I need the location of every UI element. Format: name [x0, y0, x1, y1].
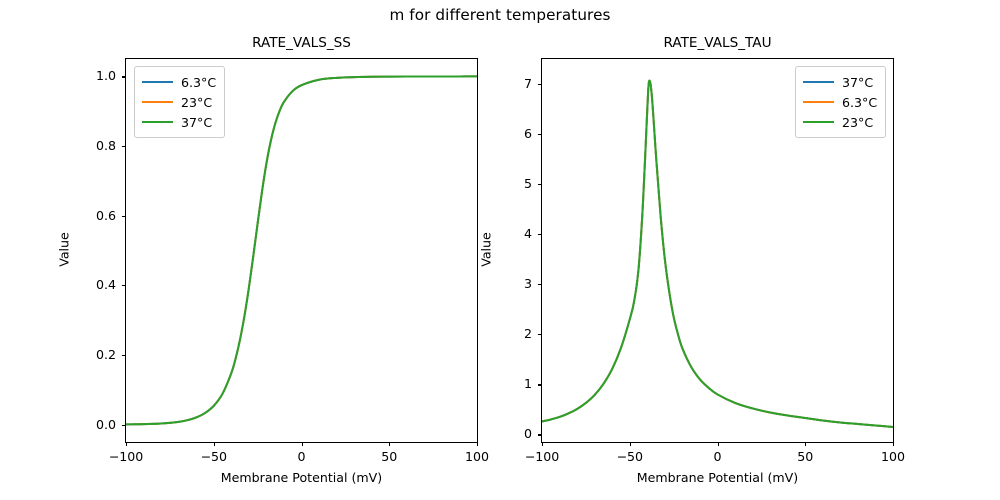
- legend-item[interactable]: 37°C: [142, 112, 216, 132]
- y-tick-label: 2: [472, 326, 532, 341]
- legend-item-label: 6.3°C: [842, 95, 877, 110]
- legend-item-label: 37°C: [181, 115, 212, 130]
- x-tick-mark: [389, 442, 390, 446]
- matplotlib-figure: m for different temperatures RATE_VALS_S…: [0, 0, 1000, 500]
- legend-item-label: 6.3°C: [181, 75, 216, 90]
- x-tick-mark: [302, 442, 303, 446]
- legend-item[interactable]: 23°C: [803, 112, 877, 132]
- x-tick-label: −50: [184, 449, 244, 464]
- legend-item[interactable]: 6.3°C: [142, 72, 216, 92]
- y-tick-label: 1: [472, 376, 532, 391]
- axes-title-tau: RATE_VALS_TAU: [541, 35, 894, 51]
- y-tick-label: 0.2: [56, 347, 116, 362]
- y-tick-label: 4: [472, 226, 532, 241]
- x-tick-mark: [477, 442, 478, 446]
- y-tick-mark: [122, 146, 126, 147]
- x-tick-label: 100: [447, 449, 507, 464]
- y-tick-mark: [538, 84, 542, 85]
- y-tick-mark: [538, 434, 542, 435]
- legend-item[interactable]: 6.3°C: [803, 92, 877, 112]
- x-tick-mark: [805, 442, 806, 446]
- y-tick-mark: [122, 355, 126, 356]
- y-tick-label: 0.8: [56, 138, 116, 153]
- x-tick-label: 50: [359, 449, 419, 464]
- x-tick-label: 50: [775, 449, 835, 464]
- legend-color-swatch: [803, 101, 834, 103]
- x-tick-mark: [214, 442, 215, 446]
- legend-item-label: 23°C: [181, 95, 212, 110]
- x-tick-mark: [893, 442, 894, 446]
- x-tick-label: −100: [96, 449, 156, 464]
- y-tick-mark: [538, 234, 542, 235]
- x-axis-label-ss: Membrane Potential (mV): [125, 470, 478, 485]
- figure-suptitle: m for different temperatures: [0, 6, 1000, 24]
- x-tick-label: −100: [512, 449, 572, 464]
- legend-item[interactable]: 23°C: [142, 92, 216, 112]
- y-tick-mark: [538, 184, 542, 185]
- x-tick-label: −50: [600, 449, 660, 464]
- x-tick-label: 0: [688, 449, 748, 464]
- legend-color-swatch: [142, 101, 173, 103]
- y-axis-label-ss: Value: [57, 230, 72, 270]
- y-tick-mark: [538, 334, 542, 335]
- x-tick-mark: [542, 442, 543, 446]
- y-tick-label: 0.0: [56, 417, 116, 432]
- legend-color-swatch: [142, 81, 173, 83]
- y-tick-label: 7: [472, 76, 532, 91]
- y-tick-mark: [538, 284, 542, 285]
- y-tick-mark: [538, 134, 542, 135]
- y-tick-mark: [122, 76, 126, 77]
- x-tick-label: 100: [863, 449, 923, 464]
- x-axis-label-tau: Membrane Potential (mV): [541, 470, 894, 485]
- y-tick-label: 6: [472, 126, 532, 141]
- y-tick-mark: [538, 384, 542, 385]
- y-tick-mark: [122, 425, 126, 426]
- legend-item[interactable]: 37°C: [803, 72, 877, 92]
- axes-title-ss: RATE_VALS_SS: [125, 35, 478, 51]
- y-tick-mark: [122, 285, 126, 286]
- y-tick-mark: [122, 216, 126, 217]
- y-tick-label: 1.0: [56, 68, 116, 83]
- legend-color-swatch: [142, 121, 173, 123]
- y-tick-label: 0: [472, 426, 532, 441]
- legend-color-swatch: [803, 81, 834, 83]
- x-tick-mark: [718, 442, 719, 446]
- legend-ss[interactable]: 6.3°C23°C37°C: [134, 66, 225, 138]
- x-tick-mark: [630, 442, 631, 446]
- x-tick-mark: [126, 442, 127, 446]
- legend-color-swatch: [803, 121, 834, 123]
- y-tick-label: 0.4: [56, 277, 116, 292]
- legend-item-label: 23°C: [842, 115, 873, 130]
- x-tick-label: 0: [272, 449, 332, 464]
- legend-tau[interactable]: 37°C6.3°C23°C: [795, 66, 886, 138]
- y-tick-label: 5: [472, 176, 532, 191]
- y-tick-label: 3: [472, 276, 532, 291]
- legend-item-label: 37°C: [842, 75, 873, 90]
- y-tick-label: 0.6: [56, 208, 116, 223]
